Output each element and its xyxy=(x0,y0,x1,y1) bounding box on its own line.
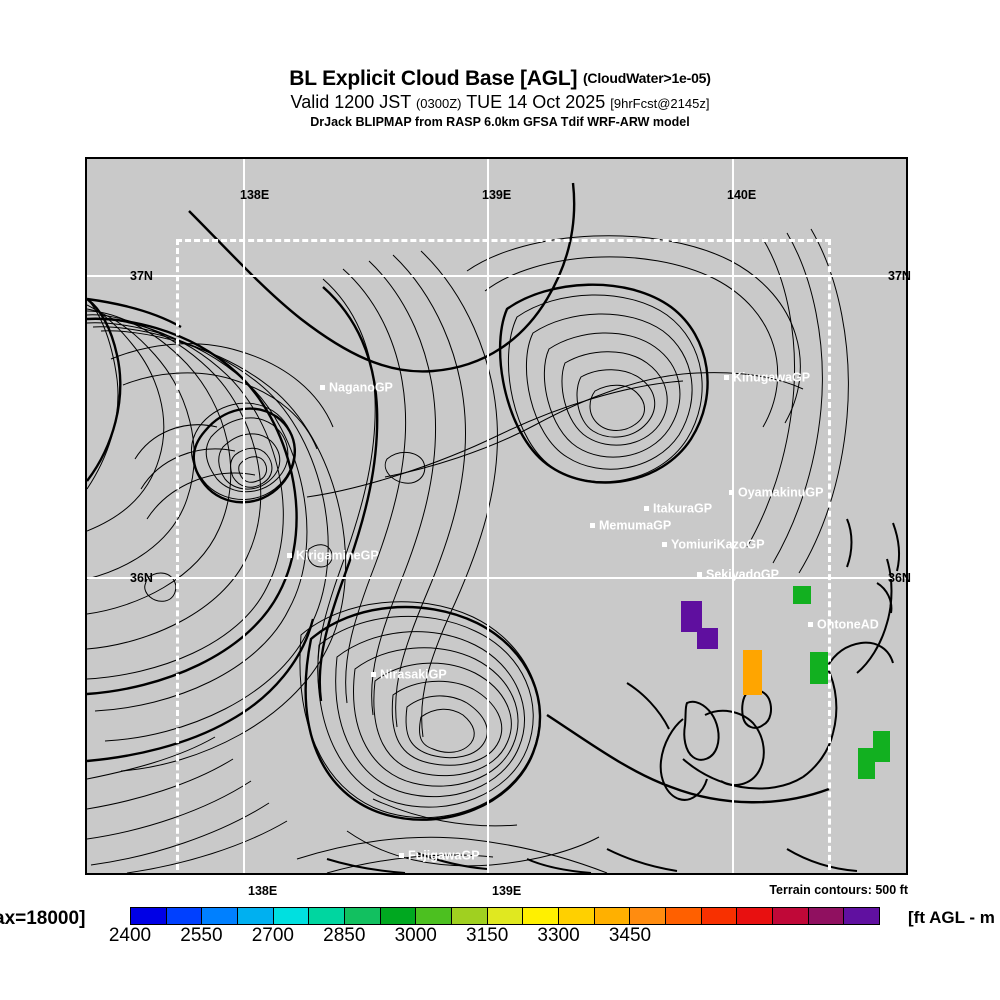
coord-label-bottom-139E: 139E xyxy=(492,884,521,898)
colorbar-segment-6[interactable] xyxy=(345,908,381,924)
title-condition: (CloudWater>1e-05) xyxy=(583,70,711,86)
graticule-line-139E xyxy=(487,159,489,873)
colorbar-segment-4[interactable] xyxy=(274,908,310,924)
terrain-contour-layer xyxy=(87,159,906,873)
station-dot-icon xyxy=(399,853,404,858)
colorbar-segment-12[interactable] xyxy=(559,908,595,924)
forecast-tag: [9hrFcst@2145z] xyxy=(610,96,709,111)
station-dot-icon xyxy=(320,385,325,390)
station-marker-SekiyadoGP[interactable]: SekiyadoGP xyxy=(697,568,779,581)
station-label: NaganoGP xyxy=(329,380,393,394)
graticule-line-138E xyxy=(243,159,245,873)
station-dot-icon xyxy=(590,523,595,528)
colorbar-tick-3450: 3450 xyxy=(609,925,651,947)
colorbar-segment-0[interactable] xyxy=(131,908,167,924)
station-marker-KinugawaGP[interactable]: KinugawaGP xyxy=(724,371,810,384)
station-marker-NirasakiGP[interactable]: NirasakiGP xyxy=(371,668,447,681)
station-dot-icon xyxy=(724,375,729,380)
colorbar-segment-5[interactable] xyxy=(309,908,345,924)
station-label: KirigamineGP xyxy=(296,548,379,562)
coord-label-side-36N: 36N xyxy=(888,571,911,585)
colorbar-tick-2400: 2400 xyxy=(109,925,151,947)
colorbar-segment-3[interactable] xyxy=(238,908,274,924)
title-block: BL Explicit Cloud Base [AGL] (CloudWater… xyxy=(0,68,1000,129)
colorbar-segment-16[interactable] xyxy=(702,908,738,924)
station-marker-KirigamineGP[interactable]: KirigamineGP xyxy=(287,549,379,562)
coord-label-top-139E: 139E xyxy=(482,188,511,202)
cloud-base-cell xyxy=(873,731,890,762)
colorbar-tick-3000: 3000 xyxy=(395,925,437,947)
colorbar-segment-18[interactable] xyxy=(773,908,809,924)
coord-label-side-36N: 36N xyxy=(130,571,153,585)
colorbar-segment-20[interactable] xyxy=(844,908,879,924)
colorbar-segment-11[interactable] xyxy=(523,908,559,924)
graticule-line-140E xyxy=(732,159,734,873)
station-marker-MemumaGP[interactable]: MemumaGP xyxy=(590,519,671,532)
station-marker-YomiuriKazoGP[interactable]: YomiuriKazoGP xyxy=(662,538,765,551)
page-title: BL Explicit Cloud Base [AGL] xyxy=(289,67,577,90)
colorbar-tick-3300: 3300 xyxy=(537,925,579,947)
colorbar-tick-2550: 2550 xyxy=(180,925,222,947)
station-dot-icon xyxy=(662,542,667,547)
station-dot-icon xyxy=(371,672,376,677)
station-dot-icon xyxy=(697,572,702,577)
colorbar-tick-2850: 2850 xyxy=(323,925,365,947)
station-dot-icon xyxy=(287,553,292,558)
cloud-base-cell xyxy=(743,650,762,695)
colorbar-segment-14[interactable] xyxy=(630,908,666,924)
station-label: NirasakiGP xyxy=(380,667,447,681)
station-label: OhtoneAD xyxy=(817,617,879,631)
colorbar-segment-9[interactable] xyxy=(452,908,488,924)
colorbar-max-note: ax=18000] xyxy=(0,908,85,930)
station-label: SekiyadoGP xyxy=(706,567,779,581)
station-label: MemumaGP xyxy=(599,518,671,532)
cloud-base-cell xyxy=(858,748,875,779)
colorbar-segment-13[interactable] xyxy=(595,908,631,924)
blipmap-page: BL Explicit Cloud Base [AGL] (CloudWater… xyxy=(0,0,1000,1000)
graticule-line-36N xyxy=(87,577,906,579)
map-frame[interactable] xyxy=(85,157,908,875)
colorbar-tick-labels: 24002550270028503000315033003450 xyxy=(130,925,880,951)
station-marker-NaganoGP[interactable]: NaganoGP xyxy=(320,381,393,394)
coord-label-top-138E: 138E xyxy=(240,188,269,202)
colorbar-segment-17[interactable] xyxy=(737,908,773,924)
station-marker-ItakuraGP[interactable]: ItakuraGP xyxy=(644,502,712,515)
colorbar-segment-2[interactable] xyxy=(202,908,238,924)
colorbar-segment-7[interactable] xyxy=(381,908,417,924)
coord-label-top-140E: 140E xyxy=(727,188,756,202)
station-marker-FujigawaGP[interactable]: FujigawaGP xyxy=(399,849,480,862)
station-label: OyamakinuGP xyxy=(738,485,823,499)
station-dot-icon xyxy=(808,622,813,627)
colorbar-segment-10[interactable] xyxy=(488,908,524,924)
valid-date: TUE 14 Oct 2025 xyxy=(466,92,605,112)
model-source: DrJack BLIPMAP from RASP 6.0km GFSA Tdif… xyxy=(0,115,1000,129)
station-marker-OhtoneAD[interactable]: OhtoneAD xyxy=(808,618,879,631)
colorbar-tick-2700: 2700 xyxy=(252,925,294,947)
station-label: YomiuriKazoGP xyxy=(671,537,765,551)
station-dot-icon xyxy=(729,490,734,495)
colorbar-tick-3150: 3150 xyxy=(466,925,508,947)
colorbar-units-note: [ft AGL - m xyxy=(908,908,995,928)
colorbar[interactable] xyxy=(130,907,880,925)
valid-time: Valid 1200 JST xyxy=(291,92,411,112)
cloud-base-cell xyxy=(697,628,718,649)
station-label: KinugawaGP xyxy=(733,370,810,384)
terrain-contour-note: Terrain contours: 500 ft xyxy=(769,883,908,897)
colorbar-segment-8[interactable] xyxy=(416,908,452,924)
coord-label-bottom-138E: 138E xyxy=(248,884,277,898)
station-marker-OyamakinuGP[interactable]: OyamakinuGP xyxy=(729,486,823,499)
title-valid-line: Valid 1200 JST (0300Z) TUE 14 Oct 2025 [… xyxy=(0,92,1000,113)
valid-time-utc: (0300Z) xyxy=(416,96,462,111)
station-label: FujigawaGP xyxy=(408,848,480,862)
coord-label-side-37N: 37N xyxy=(888,269,911,283)
colorbar-segment-15[interactable] xyxy=(666,908,702,924)
station-label: ItakuraGP xyxy=(653,501,712,515)
cloud-base-cell xyxy=(793,586,811,604)
colorbar-segment-19[interactable] xyxy=(809,908,845,924)
graticule-line-37N xyxy=(87,275,906,277)
colorbar-segment-1[interactable] xyxy=(167,908,203,924)
coord-label-side-37N: 37N xyxy=(130,269,153,283)
cloud-base-cell xyxy=(810,652,828,684)
title-main-line: BL Explicit Cloud Base [AGL] (CloudWater… xyxy=(0,68,1000,90)
station-dot-icon xyxy=(644,506,649,511)
